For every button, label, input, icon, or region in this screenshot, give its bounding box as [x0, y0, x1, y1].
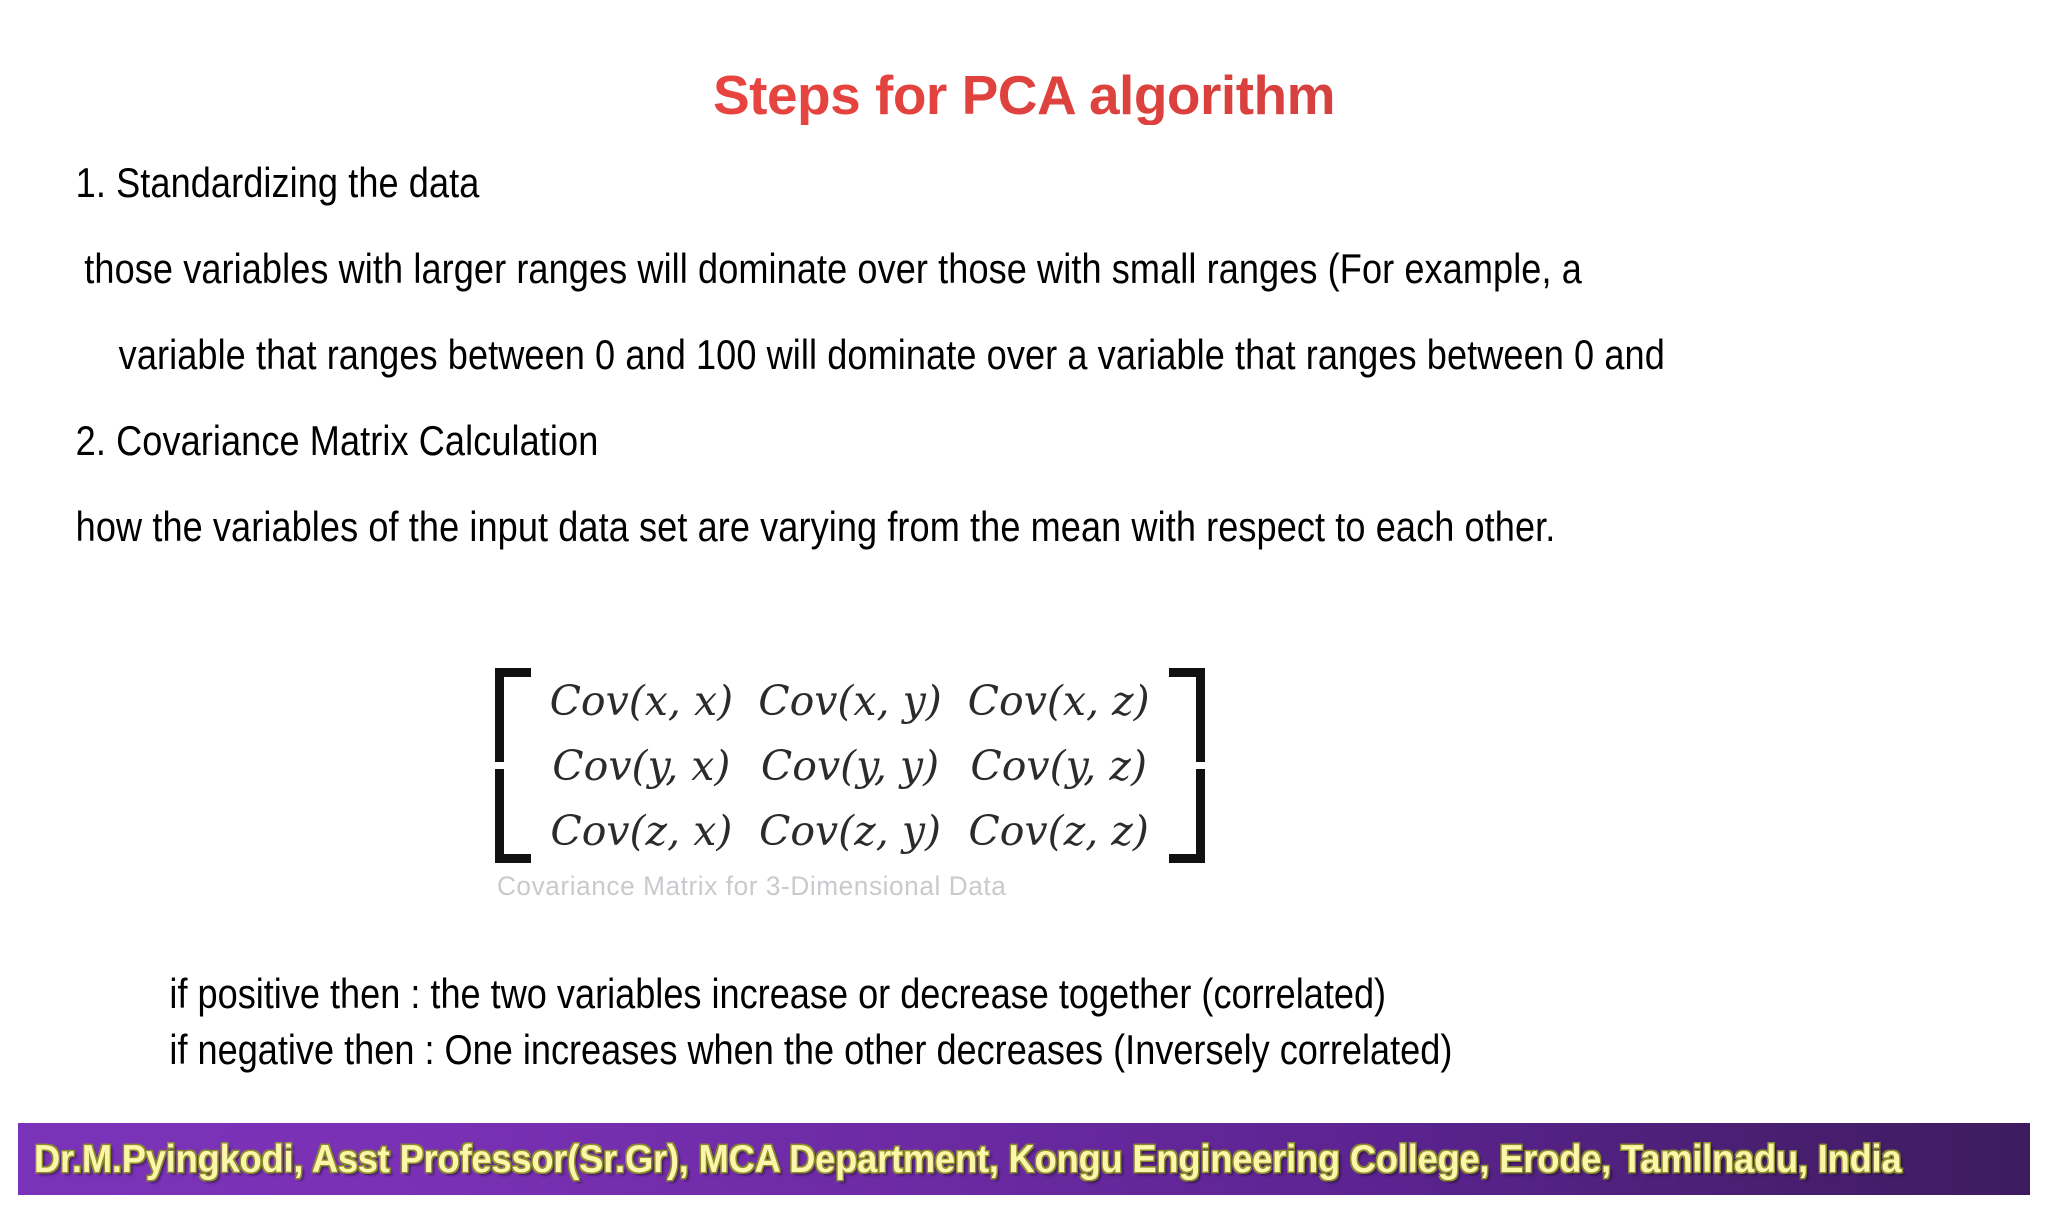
right-bracket-icon [1169, 668, 1205, 863]
body-line-step-1: 1. Standardizing the data [0, 140, 1761, 226]
page-title: Steps for PCA algorithm [0, 65, 2048, 126]
body-line-step-2: 2. Covariance Matrix Calculation [0, 398, 1761, 484]
matrix-cell-r3c2: Cov(z, y) [759, 799, 941, 863]
left-bracket-icon [495, 668, 531, 863]
matrix-cell-r1c1: Cov(x, x) [550, 669, 734, 733]
covariance-matrix-figure: Cov(x, x) Cov(x, y) Cov(x, z) Cov(y, x) … [495, 668, 1235, 902]
matrix-caption: Covariance Matrix for 3-Dimensional Data [495, 871, 1213, 902]
body-content: 1. Standardizing the data those variable… [0, 140, 2048, 570]
matrix-cell-r2c3: Cov(y, z) [970, 734, 1147, 798]
matrix-cell-r3c3: Cov(z, z) [968, 799, 1148, 863]
body-line-step-1-detail-b: variable that ranges between 0 and 100 w… [0, 312, 1761, 398]
note-line-negative: if negative then : One increases when th… [0, 1022, 1761, 1078]
matrix-cell-r2c2: Cov(y, y) [761, 734, 939, 798]
interpretation-notes: if positive then : the two variables inc… [0, 966, 2048, 1078]
matrix-cell-r1c3: Cov(x, z) [968, 669, 1150, 733]
matrix-cells: Cov(x, x) Cov(x, y) Cov(x, z) Cov(y, x) … [531, 668, 1169, 863]
matrix-cell-r2c1: Cov(y, x) [552, 734, 730, 798]
matrix-cell-r3c1: Cov(z, x) [550, 799, 732, 863]
matrix-cell-r1c2: Cov(x, y) [758, 669, 942, 733]
body-line-step-2-detail: how the variables of the input data set … [0, 484, 1761, 570]
slide-canvas: Steps for PCA algorithm 1. Standardizing… [0, 0, 2048, 1209]
covariance-matrix: Cov(x, x) Cov(x, y) Cov(x, z) Cov(y, x) … [495, 668, 1205, 863]
note-line-positive: if positive then : the two variables inc… [0, 966, 1761, 1022]
footer-attribution-text: Dr.M.Pyingkodi, Asst Professor(Sr.Gr), M… [34, 1140, 1901, 1179]
footer-banner: Dr.M.Pyingkodi, Asst Professor(Sr.Gr), M… [18, 1123, 2030, 1195]
body-line-step-1-detail-a: those variables with larger ranges will … [0, 226, 1761, 312]
